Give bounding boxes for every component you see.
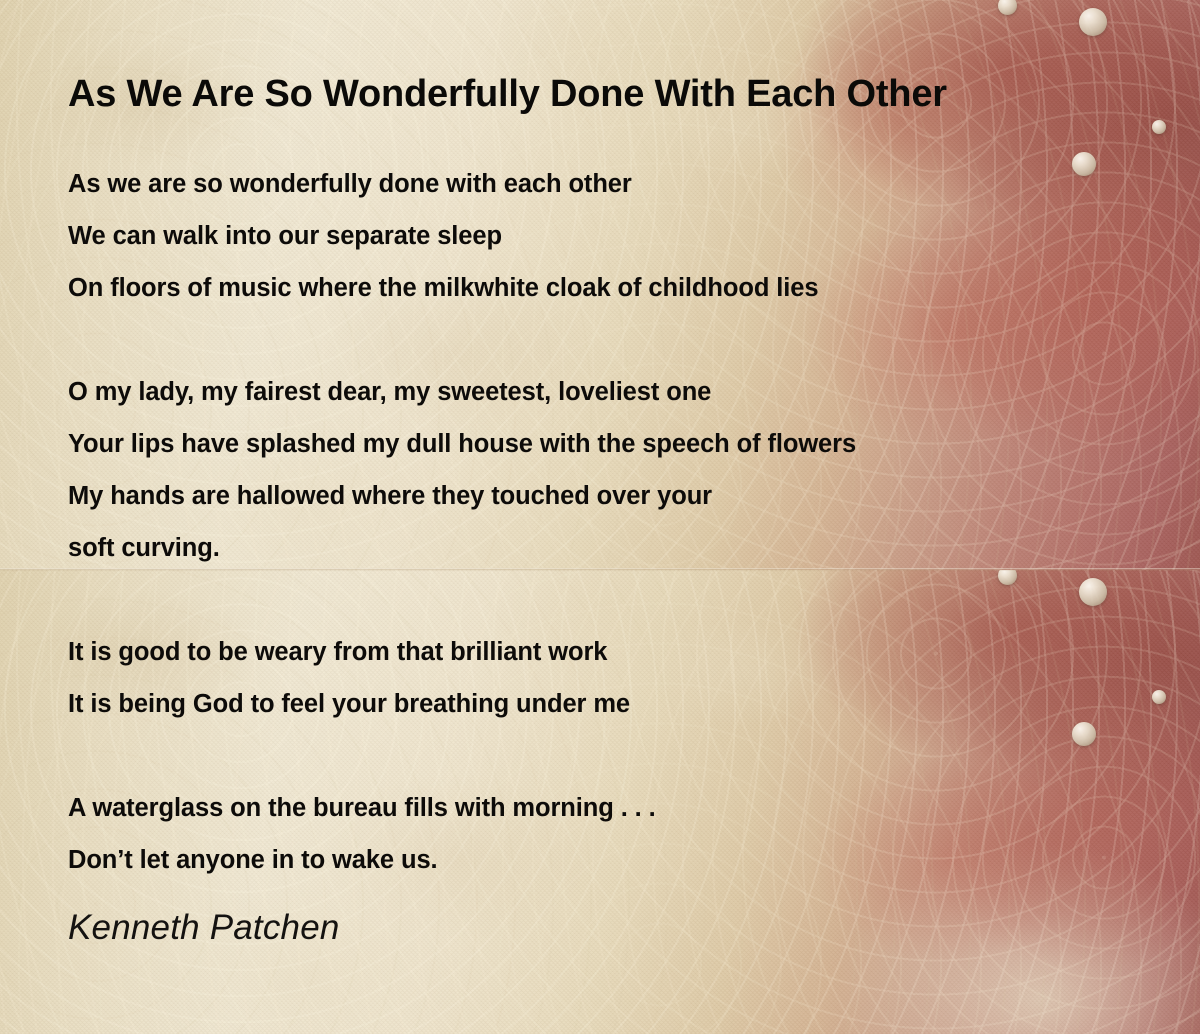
poem-title: As We Are So Wonderfully Done With Each … <box>68 73 947 116</box>
poem-author: Kenneth Patchen <box>68 908 340 948</box>
poem-line: On floors of music where the milkwhite c… <box>68 262 1148 314</box>
poem-image: As We Are So Wonderfully Done With Each … <box>0 0 1200 1034</box>
poem-text-block: As We Are So Wonderfully Done With Each … <box>0 0 1200 1034</box>
poem-line: It is being God to feel your breathing u… <box>68 678 1148 730</box>
poem-line: My hands are hallowed where they touched… <box>68 470 1148 522</box>
stanza-gap <box>68 730 1148 782</box>
poem-line: Don’t let anyone in to wake us. <box>68 834 1148 886</box>
poem-line: As we are so wonderfully done with each … <box>68 158 1148 210</box>
stanza-gap <box>68 314 1148 366</box>
poem-line: Your lips have splashed my dull house wi… <box>68 418 1148 470</box>
poem-line: soft curving. <box>68 522 1148 574</box>
poem-line: It is good to be weary from that brillia… <box>68 626 1148 678</box>
stanza-gap <box>68 574 1148 626</box>
poem-line: O my lady, my fairest dear, my sweetest,… <box>68 366 1148 418</box>
poem-line: We can walk into our separate sleep <box>68 210 1148 262</box>
poem-lines: As we are so wonderfully done with each … <box>68 158 1148 886</box>
poem-line: A waterglass on the bureau fills with mo… <box>68 782 1148 834</box>
